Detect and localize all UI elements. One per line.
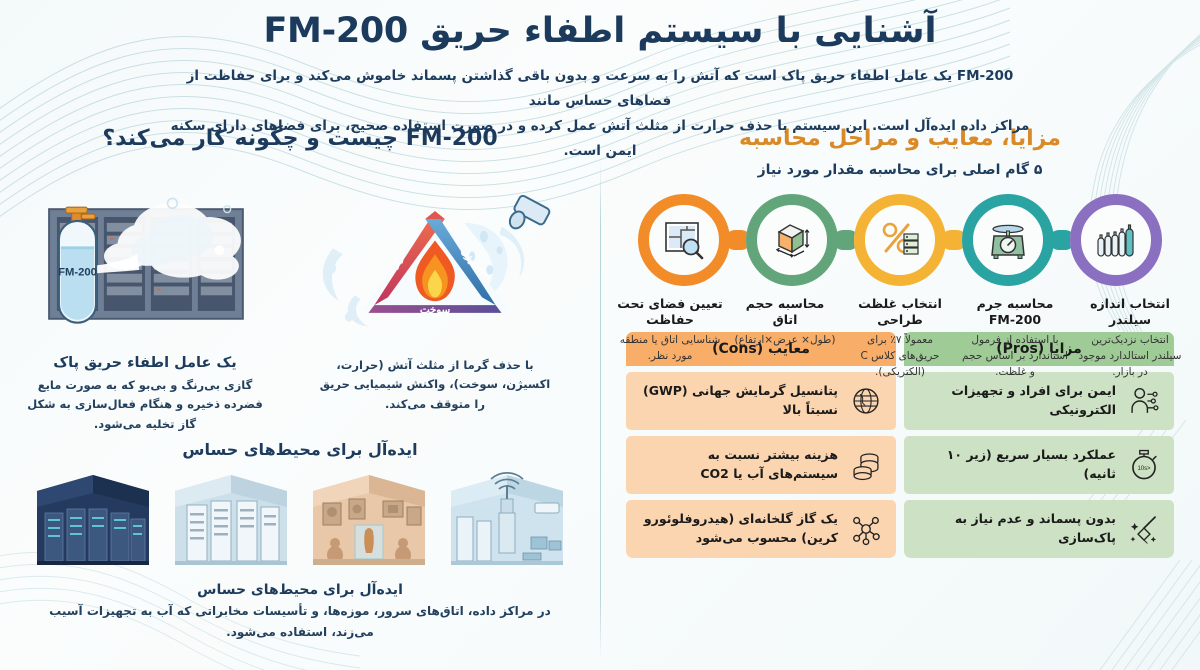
table-row: هزینه بیشتر نسبت به سیستم‌های آب یا CO2 [626,436,896,494]
fire-triangle-desc: با حذف گرما از مثلث آتش (حرارت، اکسیژن، … [298,356,572,415]
ideal-title: ایده‌آل برای محیط‌های حساس [0,582,600,598]
museum-room-icon [305,469,433,574]
page-title: آشنایی با سیستم اطفاء حریق FM-200 [0,10,1200,54]
steps-row [600,194,1200,286]
step-desc-3: معمولاً ۷٪ برای حریق‌های کلاس C (الکتریک… [847,333,954,380]
ideal-rooms [0,469,600,574]
clean-agent-title: یک عامل اطفاء حریق پاک [8,355,282,371]
cylinder-server-smoke-illustration: FM-200 [8,176,282,351]
stopwatch-label: <10s [1137,466,1151,472]
step-label-5: انتخاب اندازه سیلندر انتخاب نزدیک‌ترین س… [1073,296,1188,381]
ideal-heading: ایده‌آل برای محیط‌های حساس [0,440,600,459]
cube-dimensions-icon [768,216,816,264]
step-labels: تعیین فضای تحت حفاظت شناسایی اتاق یا منط… [600,296,1200,381]
broom-sparkle-icon [1124,509,1164,549]
step-desc-2: (طول× عرض×ارتفاع) [732,333,839,349]
step-label-4: محاسبه جرم FM-200 با استفاده از فرمول اس… [958,296,1073,381]
left-column: FM-200 چیست و چگونه کار می‌کند؟ [0,125,600,670]
server-room-icon [167,469,295,574]
infographic-page: آشنایی با سیستم اطفاء حریق FM-200 FM-200… [0,0,1200,670]
data-center-room-icon [29,469,157,574]
pros-text-3: بدون پسماند و عدم نیاز به پاک‌سازی [914,510,1116,546]
triangle-label-fuel: سوخت [420,305,450,316]
step-desc-1: شناسایی اتاق یا منطقه مورد نظر. [617,333,724,365]
stopwatch-icon: <10s [1124,445,1164,485]
cylinder-label: FM-200 [58,267,97,279]
floorplan-magnifier-icon [660,216,708,264]
step-title-1: تعیین فضای تحت حفاظت [617,296,724,330]
cons-text-2: هزینه بیشتر نسبت به سیستم‌های آب یا CO2 [636,446,838,482]
ideal-desc: در مراکز داده، اتاق‌های سرور، موزه‌ها، و… [0,601,600,642]
step-title-3: انتخاب غلظت طراحی [847,296,954,330]
coins-stack-icon [846,445,886,485]
header: آشنایی با سیستم اطفاء حریق FM-200 FM-200… [0,10,1200,164]
step-title-4: محاسبه جرم FM-200 [962,296,1069,330]
clean-agent-desc: گازی بی‌رنگ و بی‌بو که به صورت مایع فضرد… [8,376,282,435]
cons-text-3: یک گاز گلخانه‌ای (هیدروفلوئورو کرین) محس… [636,510,838,546]
fire-triangle-illustration: حرارت اکسیژن سوخت [298,176,572,351]
step-desc-5: انتخاب نزدیک‌ترین سیلندر استالدارد موجود… [1077,333,1184,380]
step-title-2: محاسبه حجم اتاق [732,296,839,330]
cons-text-1: پتانسیل گرمایش جهانی (GWP) نسبتاً بالا [636,382,838,418]
table-row: بدون پسماند و عدم نیاز به پاک‌سازی [904,500,1174,558]
left-panels: FM-200 یک عامل اطفاء حریق پاک گازی بی‌رن… [0,176,600,435]
step-desc-4: با استفاده از فرمول استاندارد بر اساس حج… [962,333,1069,380]
step-circle-3[interactable] [854,194,946,286]
telecom-room-icon [443,469,571,574]
fire-triangle-panel: حرارت اکسیژن سوخت با حذف گرما از مثلث [290,176,580,435]
step-label-2: محاسبه حجم اتاق (طول× عرض×ارتفاع) [728,296,843,381]
calculation-steps: تعیین فضای تحت حفاظت شناسایی اتاق یا منط… [600,194,1200,314]
molecule-icon [846,509,886,549]
step-circle-1[interactable] [638,194,730,286]
table-row: یک گاز گلخانه‌ای (هیدروفلوئورو کرین) محس… [626,500,896,558]
weighing-scale-icon [984,216,1032,264]
step-circle-2[interactable] [746,194,838,286]
subtitle-line-1: FM-200 یک عامل اطفاء حریق پاک است که آتش… [170,64,1030,114]
gas-cylinders-icon [1092,216,1140,264]
step-title-5: انتخاب اندازه سیلندر [1077,296,1184,330]
step-label-1: تعیین فضای تحت حفاظت شناسایی اتاق یا منط… [613,296,728,381]
right-column: مزایا، معایب و مراحل محاسبه ۵ گام اصلی ب… [600,125,1200,670]
percent-server-icon [876,216,924,264]
pros-text-2: عملکرد بسیار سریع (زیر ۱۰ ثانیه) [914,446,1116,482]
step-circle-4[interactable] [962,194,1054,286]
page-subtitle: FM-200 یک عامل اطفاء حریق پاک است که آتش… [170,64,1030,164]
step-label-3: انتخاب غلظت طراحی معمولاً ۷٪ برای حریق‌ه… [843,296,958,381]
right-heading-sub: ۵ گام اصلی برای محاسبه مقدار مورد نیاز [600,162,1200,178]
globe-icon [846,381,886,421]
pros-text-1: ایمن برای افراد و تجهیزات الکترونیکی [914,382,1116,418]
step-circle-5[interactable] [1070,194,1162,286]
clean-agent-panel: FM-200 یک عامل اطفاء حریق پاک گازی بی‌رن… [0,176,290,435]
person-safe-icon [1124,381,1164,421]
table-row: عملکرد بسیار سریع (زیر ۱۰ ثانیه) <10s [904,436,1174,494]
subtitle-line-2: مراکز داده ایده‌آل است. این سیستم با حذف… [170,114,1030,164]
